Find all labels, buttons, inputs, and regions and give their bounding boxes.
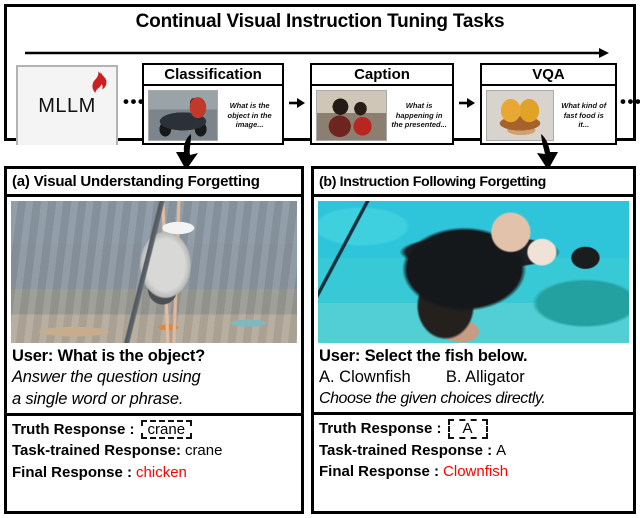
panel-a-response-block: Truth Response : crane Task-trained Resp… [7,416,301,484]
truth-response-row: Truth Response : A [319,418,628,440]
instruction-line: Choose the given choices directly. [319,389,628,409]
task-card-vqa: VQA What kind of fast food is it... [480,63,617,145]
mllm-box: MLLM [16,65,118,145]
panel-a-header: (a) Visual Understanding Forgetting [7,169,301,197]
instruction-line: Answer the question using [12,367,296,388]
task-body: What is the object in the image... [144,86,282,145]
user-question: User: What is the object? [12,346,296,367]
timeline-arrow-icon [25,48,609,58]
task-question: What is the object in the image... [221,90,278,141]
task-title: Caption [312,65,452,86]
panel-b-question-block: User: Select the fish below. A. Clownfis… [314,345,633,415]
panel-instruction-following-forgetting: (b) Instruction Following Forgetting Use… [311,166,636,514]
task-card-caption: Caption What is happening in the present… [310,63,454,145]
truth-response-row: Truth Response : crane [12,419,296,441]
choice-b: B. Alligator [446,368,525,386]
panel-a-question-block: User: What is the object? Answer the que… [7,345,301,416]
figure-title: Continual Visual Instruction Tuning Task… [7,11,633,33]
panel-b-response-block: Truth Response : A Task-trained Response… [314,415,633,483]
task-title: Classification [144,65,282,86]
choice-a: A. Clownfish [319,368,411,386]
truth-response-label: Truth Response : [12,419,135,441]
wading-bird-photo [11,201,297,343]
task-title: VQA [482,65,615,86]
manta-ray-photo [318,201,629,343]
step-arrow-1-icon [289,97,305,109]
user-question: User: Select the fish below. [319,346,628,367]
truth-response-value: A [448,419,488,439]
task-trained-response-value: A [496,440,506,462]
task-body: What is happening in the presented... [312,86,452,145]
task-trained-response-value: crane [185,440,223,462]
task-trained-response-label: Task-trained Response: [12,440,181,462]
panel-visual-understanding-forgetting: (a) Visual Understanding Forgetting User… [4,166,304,514]
choice-row: A. Clownfish B. Alligator [319,367,628,388]
flame-icon [92,71,109,93]
mllm-label: MLLM [18,95,116,118]
down-arrow-right-icon [527,134,567,170]
panel-b-header: (b) Instruction Following Forgetting [314,169,633,197]
pipeline-frame: Continual Visual Instruction Tuning Task… [4,4,636,141]
final-response-row: Final Response : Clownfish [319,461,628,483]
task-trained-response-row: Task-trained Response: crane [12,440,296,462]
task-card-classification: Classification What is the object in the… [142,63,284,145]
two-people-photo [316,90,387,141]
truth-response-value: crane [141,420,193,440]
truth-response-label: Truth Response : [319,418,442,440]
down-arrow-left-icon [167,134,207,170]
final-response-row: Final Response : chicken [12,462,296,484]
instruction-line: a single word or phrase. [12,389,296,410]
task-question: What is happening in the presented... [390,90,448,141]
task-trained-response-label: Task-trained Response : [319,440,492,462]
final-response-label: Final Response : [319,461,439,483]
ellipsis-right: ••• [620,93,640,110]
final-response-label: Final Response : [12,462,132,484]
final-response-value: Clownfish [443,461,508,483]
step-arrow-2-icon [459,97,475,109]
task-trained-response-row: Task-trained Response : A [319,440,628,462]
final-response-value: chicken [136,462,187,484]
